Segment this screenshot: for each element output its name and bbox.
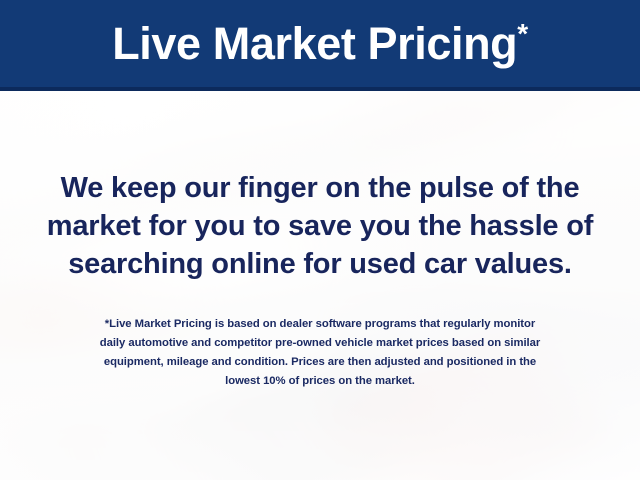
headline-line-3: searching online for used car values.	[22, 245, 618, 283]
disclaimer-line-4: lowest 10% of prices on the market.	[26, 372, 614, 391]
headline-line-2: market for you to save you the hassle of	[22, 207, 618, 245]
headline-paragraph: We keep our finger on the pulse of the m…	[0, 169, 640, 283]
header-banner: Live Market Pricing*	[0, 0, 640, 91]
disclaimer-line-3: equipment, mileage and condition. Prices…	[26, 353, 614, 372]
disclaimer-paragraph: *Live Market Pricing is based on dealer …	[0, 315, 640, 391]
live-market-pricing-graphic: Live Market Pricing* We keep our finger …	[0, 0, 640, 480]
headline-line-1: We keep our finger on the pulse of the	[22, 169, 618, 207]
disclaimer-line-1: *Live Market Pricing is based on dealer …	[26, 315, 614, 334]
page-title: Live Market Pricing*	[112, 21, 528, 66]
body-copy: We keep our finger on the pulse of the m…	[0, 91, 640, 480]
page-title-text: Live Market Pricing	[112, 18, 517, 69]
page-title-asterisk: *	[517, 18, 528, 49]
disclaimer-line-2: daily automotive and competitor pre-owne…	[26, 334, 614, 353]
